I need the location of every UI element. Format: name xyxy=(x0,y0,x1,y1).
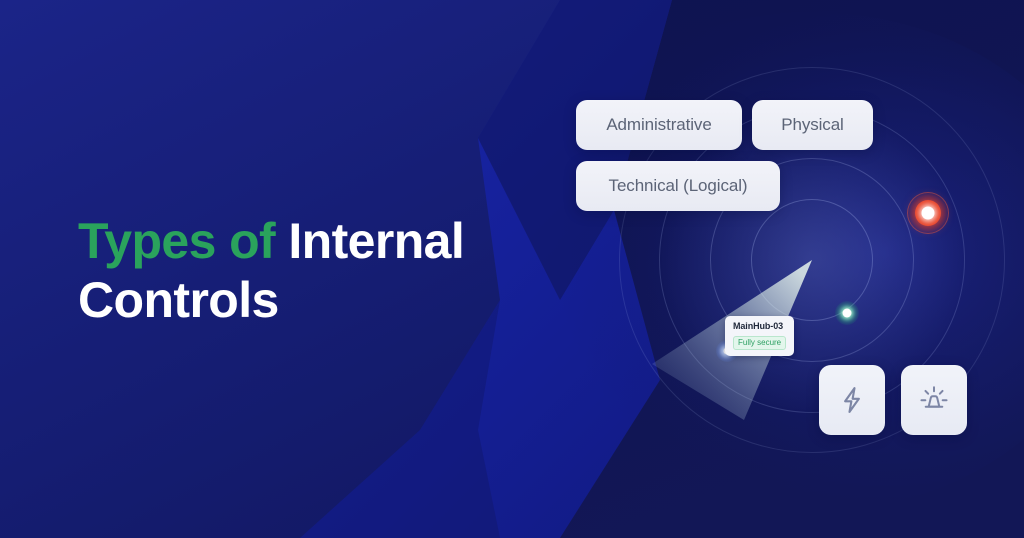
radar-marker-secure[interactable] xyxy=(834,300,860,326)
secure-dot xyxy=(843,309,852,318)
icon-card-siren[interactable] xyxy=(901,365,967,435)
radar-marker-alert[interactable] xyxy=(906,191,950,235)
pill-technical[interactable]: Technical (Logical) xyxy=(576,161,780,211)
status-badge: Fully secure xyxy=(733,336,786,350)
lightning-bolt-icon xyxy=(837,385,867,415)
alarm-beacon-icon xyxy=(918,384,950,416)
page-title-accent: Types of xyxy=(78,213,275,269)
pill-administrative[interactable]: Administrative xyxy=(576,100,742,150)
alert-dot xyxy=(922,207,935,220)
page-title: Types of Internal Controls xyxy=(78,212,548,330)
node-tooltip[interactable]: MainHub-03 Fully secure xyxy=(725,316,794,356)
pill-physical[interactable]: Physical xyxy=(752,100,873,150)
tooltip-title: MainHub-03 xyxy=(733,321,786,332)
hero-banner: MainHub-03 Fully secure Administrative P… xyxy=(0,0,1024,538)
icon-card-bolt[interactable] xyxy=(819,365,885,435)
